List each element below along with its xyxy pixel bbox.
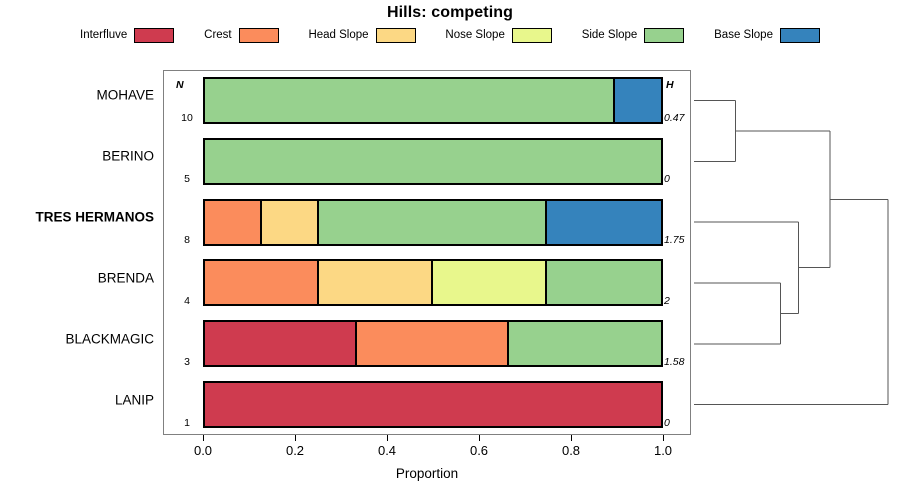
bar-segment <box>205 79 615 122</box>
x-axis: 0.00.20.40.60.81.0 <box>163 435 691 465</box>
y-axis-tick-label: TRES HERMANOS <box>35 210 154 225</box>
h-value: 2 <box>664 295 670 307</box>
stacked-bar <box>203 381 663 428</box>
legend-label: Interfluve <box>80 29 127 41</box>
bar-segment <box>205 140 661 183</box>
legend-label: Head Slope <box>308 29 368 41</box>
x-axis-tick-mark <box>203 435 204 441</box>
y-axis-tick-label: BLACKMAGIC <box>65 331 154 346</box>
x-axis-tick-label: 0.0 <box>194 443 212 458</box>
stacked-bar <box>203 77 663 124</box>
legend-label: Side Slope <box>582 29 638 41</box>
bar-segment <box>319 201 547 244</box>
legend-entry: Head Slope <box>308 28 415 43</box>
bar-segment <box>615 79 661 122</box>
x-axis-title: Proportion <box>163 466 691 481</box>
x-axis-tick-mark <box>571 435 572 441</box>
bar-segment <box>547 261 661 304</box>
legend-entry: Interfluve <box>80 28 174 43</box>
y-axis-labels: MOHAVEBERINOTRES HERMANOSBRENDABLACKMAGI… <box>0 70 158 435</box>
n-value: 10 <box>176 112 198 124</box>
h-value: 1.58 <box>664 356 684 368</box>
legend-label: Nose Slope <box>445 29 504 41</box>
bar-segment <box>509 322 661 365</box>
legend-swatch-icon <box>512 28 552 43</box>
legend-entry: Nose Slope <box>445 28 551 43</box>
bar-segment <box>205 201 262 244</box>
n-value: 5 <box>176 173 198 185</box>
x-axis-tick-label: 1.0 <box>654 443 672 458</box>
x-axis-tick-mark <box>663 435 664 441</box>
legend-entry: Side Slope <box>582 28 685 43</box>
n-value: 3 <box>176 356 198 368</box>
legend-entry: Base Slope <box>714 28 820 43</box>
stacked-bar <box>203 320 663 367</box>
h-column-header: H <box>666 79 674 91</box>
bar-segment <box>433 261 547 304</box>
page-title: Hills: competing <box>0 4 900 22</box>
stacked-bar <box>203 199 663 246</box>
legend-entry: Crest <box>204 28 278 43</box>
bar-segment <box>319 261 433 304</box>
figure-root: Hills: competing InterfluveCrestHead Slo… <box>0 0 900 500</box>
stacked-bar <box>203 138 663 185</box>
legend-swatch-icon <box>780 28 820 43</box>
legend-swatch-icon <box>239 28 279 43</box>
bar-segment <box>547 201 661 244</box>
y-axis-tick-label: LANIP <box>115 392 154 407</box>
n-column-header: N <box>176 79 184 91</box>
h-value: 1.75 <box>664 234 684 246</box>
y-axis-tick-label: MOHAVE <box>96 88 154 103</box>
legend-label: Crest <box>204 29 231 41</box>
x-axis-tick-mark <box>295 435 296 441</box>
bar-segment <box>205 383 661 426</box>
y-axis-tick-label: BERINO <box>102 149 154 164</box>
dendrogram <box>691 70 900 435</box>
bar-segment <box>357 322 509 365</box>
bar-segment <box>262 201 319 244</box>
bar-segment <box>205 261 319 304</box>
legend-swatch-icon <box>134 28 174 43</box>
x-axis-tick-label: 0.8 <box>562 443 580 458</box>
legend-swatch-icon <box>376 28 416 43</box>
h-value: 0.47 <box>664 112 684 124</box>
n-value: 4 <box>176 295 198 307</box>
x-axis-tick-mark <box>479 435 480 441</box>
bar-segment <box>205 322 357 365</box>
legend-swatch-icon <box>644 28 684 43</box>
x-axis-tick-label: 0.6 <box>470 443 488 458</box>
y-axis-tick-label: BRENDA <box>98 270 154 285</box>
x-axis-tick-mark <box>387 435 388 441</box>
h-value: 0 <box>664 417 670 429</box>
n-value: 8 <box>176 234 198 246</box>
h-value: 0 <box>664 173 670 185</box>
legend: InterfluveCrestHead SlopeNose SlopeSide … <box>80 26 820 44</box>
stacked-bar <box>203 259 663 306</box>
x-axis-tick-label: 0.2 <box>286 443 304 458</box>
legend-label: Base Slope <box>714 29 773 41</box>
x-axis-tick-label: 0.4 <box>378 443 396 458</box>
n-value: 1 <box>176 417 198 429</box>
